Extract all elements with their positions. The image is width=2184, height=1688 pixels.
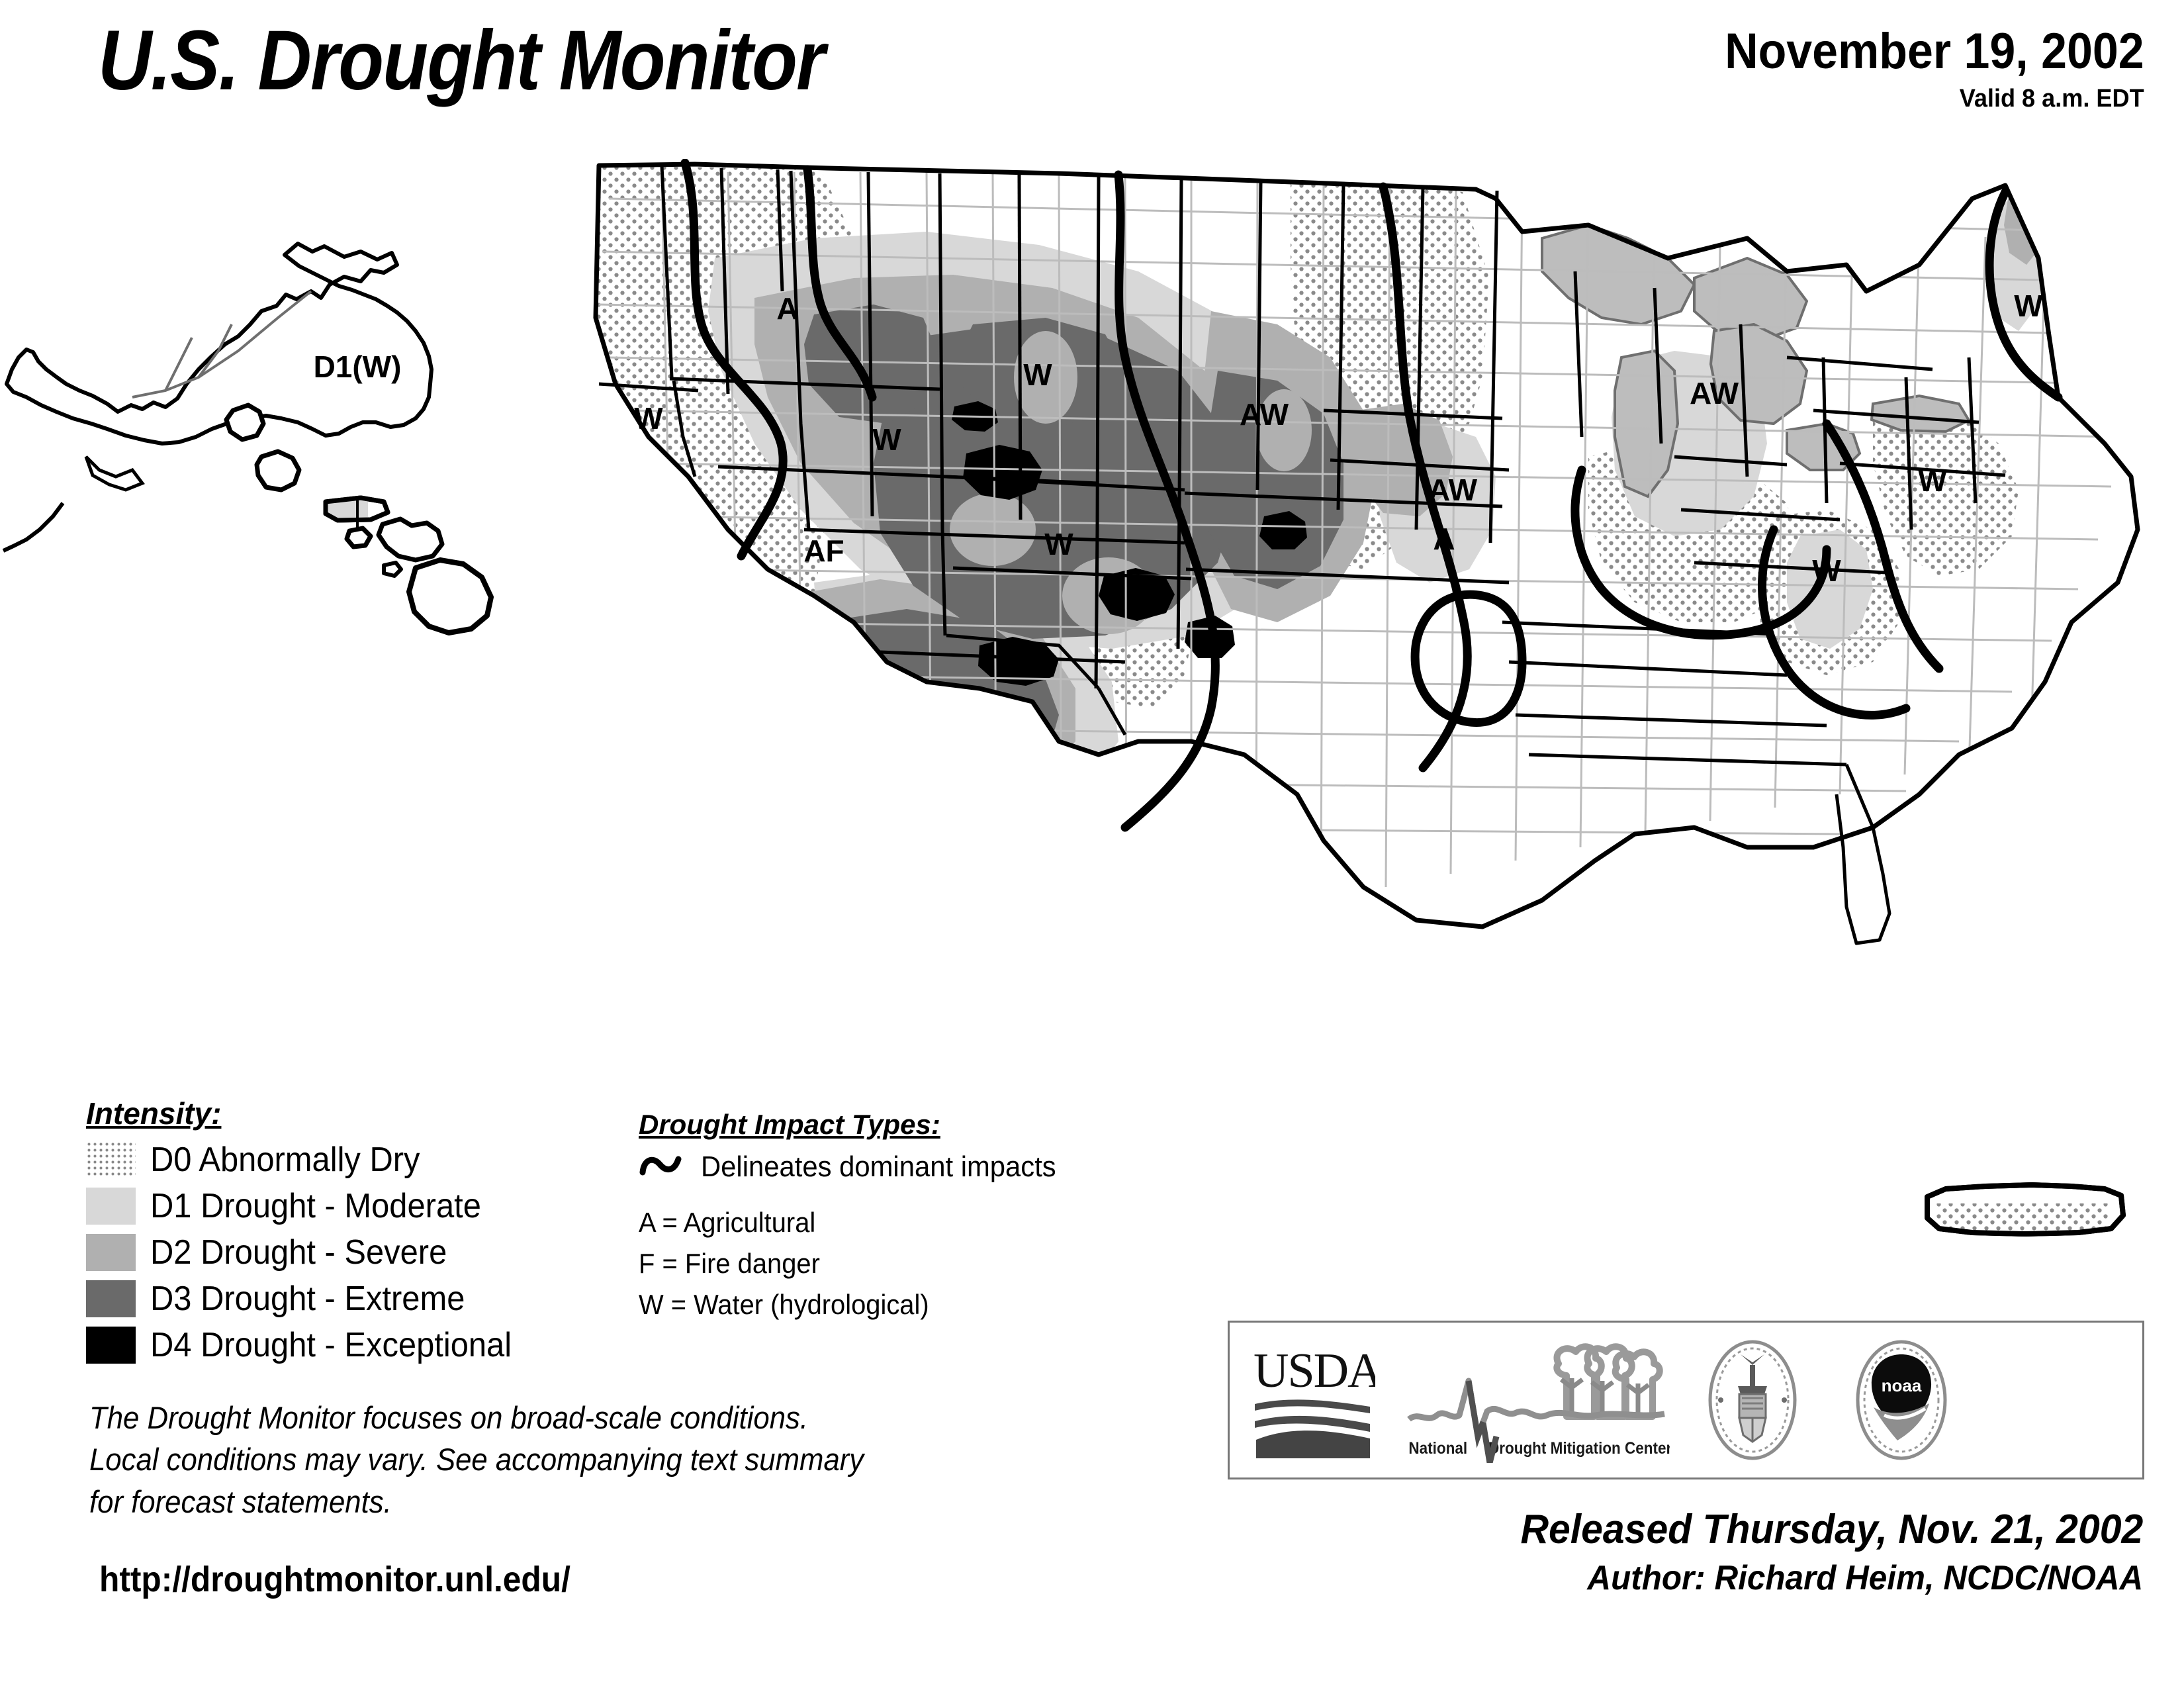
legend-swatch-d1 (86, 1188, 136, 1225)
impact-def-agricultural: A = Agricultural (639, 1207, 1053, 1239)
impact-legend-heading: Drought Impact Types: (639, 1109, 1075, 1141)
map-label-new-mexico-texas: W (1044, 527, 1073, 561)
impact-def-water: W = Water (hydrological) (639, 1289, 1053, 1321)
map-label-montana-wyoming: W (1023, 357, 1052, 392)
map-label-hawaii-molokai: D1(W) (314, 350, 402, 384)
disclaimer-line-1: The Drought Monitor focuses on broad-sca… (89, 1397, 864, 1438)
map-label-michigan: AW (1690, 376, 1739, 410)
tilde-icon (639, 1150, 684, 1184)
noaa-seal: noaa (1825, 1337, 1978, 1463)
impact-squiggle-label: Delineates dominant impacts (701, 1150, 1056, 1184)
ndmc-logo: National Drought Mitigation Center (1395, 1337, 1680, 1463)
map-label-arkansas: A (1433, 522, 1455, 556)
date-block: November 19, 2002 Valid 8 a.m. EDT (1688, 26, 2144, 113)
hawaii-outline (226, 405, 491, 633)
legend-row-d1: D1 Drought - Moderate (86, 1183, 535, 1229)
legend-label-d4: D4 Drought - Exceptional (150, 1325, 512, 1365)
map-label-california: W (634, 401, 663, 436)
release-info: Released Thursday, Nov. 21, 2002 Author:… (1488, 1506, 2143, 1598)
map-label-arizona: AF (803, 534, 844, 568)
legend-row-d0: D0 Abnormally Dry (86, 1137, 535, 1183)
map-label-nevada-utah: W (872, 422, 901, 457)
map-date: November 19, 2002 (1725, 26, 2144, 77)
legend-swatch-d0 (86, 1141, 136, 1178)
ndmc-logo-text: National (1408, 1439, 1467, 1458)
legend-label-d3: D3 Drought - Extreme (150, 1279, 465, 1319)
puerto-rico-outline (1927, 1185, 2123, 1235)
legend-row-d4: D4 Drought - Exceptional (86, 1322, 535, 1368)
d1-pocket-colorado (950, 493, 1036, 566)
doc-seal (1680, 1337, 1825, 1463)
intensity-legend: Intensity: D0 Abnormally Dry D1 Drought … (86, 1096, 535, 1368)
impact-squiggle-row: Delineates dominant impacts (639, 1150, 1075, 1184)
disclaimer-line-2: Local conditions may vary. See accompany… (89, 1438, 864, 1480)
map-label-eastern-washington: A (776, 291, 798, 326)
svg-text:Drought Mitigation Center: Drought Mitigation Center (1488, 1439, 1670, 1458)
legend-swatch-d2 (86, 1234, 136, 1271)
svg-text:USDA: USDA (1253, 1344, 1375, 1398)
noaa-seal-text: noaa (1881, 1376, 1921, 1395)
map-label-nebraska: AW (1240, 397, 1289, 432)
website-url[interactable]: http://droughtmonitor.unl.edu/ (99, 1559, 570, 1600)
impact-legend: Drought Impact Types: Delineates dominan… (639, 1109, 1075, 1330)
map-label-virginia: W (1918, 463, 1947, 498)
map-label-maine: W (2014, 289, 2043, 323)
legend-row-d3: D3 Drought - Extreme (86, 1276, 535, 1322)
legend-label-d1: D1 Drought - Moderate (150, 1186, 481, 1226)
legend-row-d2: D2 Drought - Severe (86, 1229, 535, 1276)
impact-def-fire: F = Fire danger (639, 1248, 1053, 1280)
disclaimer-line-3: for forecast statements. (89, 1481, 864, 1523)
legend-swatch-d3 (86, 1280, 136, 1317)
map-valid-time: Valid 8 a.m. EDT (1711, 85, 2144, 113)
legend-swatch-d4 (86, 1327, 136, 1364)
release-author: Author: Richard Heim, NCDC/NOAA (1520, 1558, 2143, 1598)
usda-logo: USDA (1230, 1339, 1395, 1462)
map-label-missouri-arkansas: AW (1428, 473, 1478, 507)
intensity-legend-heading: Intensity: (86, 1096, 535, 1131)
release-date: Released Thursday, Nov. 21, 2002 (1520, 1506, 2143, 1553)
legend-label-d2: D2 Drought - Severe (150, 1233, 447, 1272)
map-label-georgia-carolina: W (1812, 553, 1841, 588)
legend-label-d0: D0 Abnormally Dry (150, 1140, 420, 1180)
disclaimer-text: The Drought Monitor focuses on broad-sca… (89, 1397, 864, 1523)
agency-logo-box: USDA National Drought Mitigation Center (1228, 1321, 2144, 1479)
page-title: U.S. Drought Monitor (98, 19, 824, 103)
